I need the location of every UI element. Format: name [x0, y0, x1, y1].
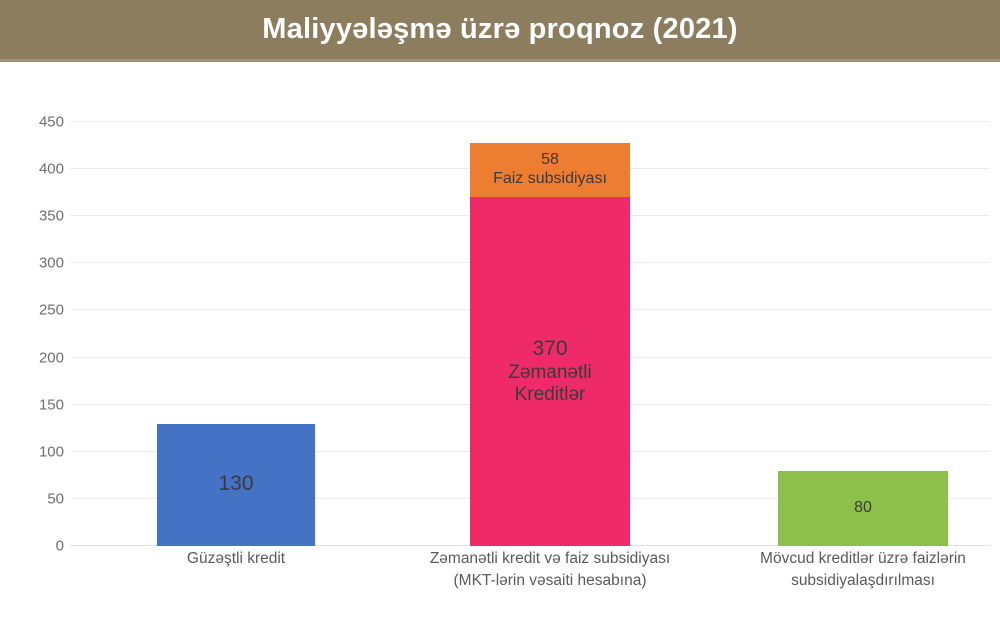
y-axis: 050100150200250300350400450	[10, 122, 64, 546]
chart-canvas: 050100150200250300350400450 130370Zəmanə…	[0, 62, 1000, 621]
y-axis-tick-label: 400	[18, 161, 64, 178]
y-axis-tick-label: 150	[18, 396, 64, 413]
bar-series-label: Faiz subsidiyası	[493, 170, 607, 189]
y-axis-tick-label: 300	[18, 255, 64, 272]
bar-column[interactable]: 130	[157, 424, 315, 546]
title-banner: Maliyyələşmə üzrə proqnoz (2021)	[0, 0, 1000, 62]
bar-value-label: 58	[541, 151, 559, 170]
bar-series-label: Zəmanətli	[508, 362, 591, 384]
x-axis-category-label-line: subsidiyalaşdırılması	[668, 570, 1000, 592]
bar-segment[interactable]: 370ZəmanətliKreditlər	[470, 197, 630, 546]
y-axis-tick-label: 250	[18, 302, 64, 319]
y-axis-tick-label: 450	[18, 114, 64, 131]
page-title: Maliyyələşmə üzrə proqnoz (2021)	[0, 0, 1000, 59]
y-axis-tick-label: 50	[18, 490, 64, 507]
y-axis-tick-label: 350	[18, 208, 64, 225]
bar-series-label: Kreditlər	[515, 384, 586, 406]
x-axis-category-label: Mövcud kreditlər üzrə faizlərinsubsidiya…	[668, 548, 1000, 593]
bar-segment[interactable]: 58Faiz subsidiyası	[470, 143, 630, 198]
x-axis: Güzəştli kreditZəmanətli kredit və faiz …	[70, 548, 990, 618]
bar-column[interactable]: 80	[778, 471, 948, 546]
y-axis-tick-label: 200	[18, 349, 64, 366]
x-axis-category-label-line: Mövcud kreditlər üzrə faizlərin	[668, 548, 1000, 570]
gridline	[70, 121, 990, 122]
bar-value-label: 80	[854, 499, 872, 518]
bar-value-label: 130	[218, 472, 253, 497]
bar-column[interactable]: 370ZəmanətliKreditlər58Faiz subsidiyası	[470, 143, 630, 546]
bar-value-label: 370	[532, 337, 567, 362]
plot-area: 130370ZəmanətliKreditlər58Faiz subsidiya…	[70, 122, 990, 546]
y-axis-tick-label: 100	[18, 443, 64, 460]
bar-segment[interactable]: 130	[157, 424, 315, 546]
bar-segment[interactable]: 80	[778, 471, 948, 546]
